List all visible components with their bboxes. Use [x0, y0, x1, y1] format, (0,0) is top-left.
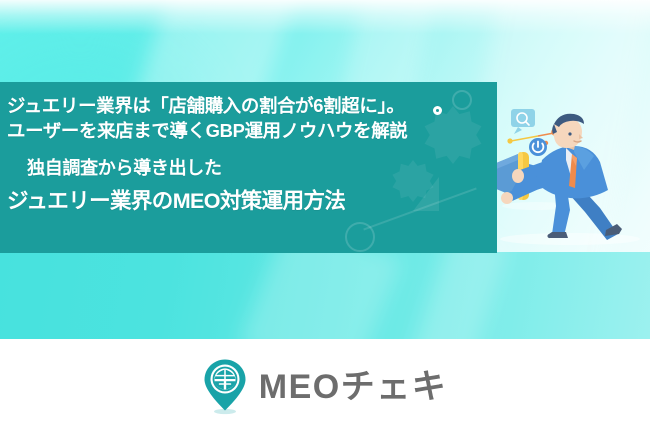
map-pin-icon: [203, 358, 247, 416]
headline-line-1: ジュエリー業界は「店舗購入の割合が6割超に」。: [7, 93, 491, 118]
hand: [501, 192, 513, 204]
power-icon: [529, 138, 547, 156]
headline-line-2: ユーザーを来店まで導くGBP運用ノウハウを解説: [7, 118, 491, 143]
hero-bottom-band: [0, 252, 650, 339]
headline-text-block: ジュエリー業界は「店舗購入の割合が6割超に」。 ユーザーを来店まで導くGBP運用…: [0, 82, 497, 253]
eye: [568, 132, 571, 135]
logo-wordmark: MEOチェキ: [259, 370, 447, 404]
footer-bar: MEOチェキ: [0, 339, 650, 434]
top-white-wash: [0, 0, 650, 34]
meo-cheki-logo[interactable]: MEOチェキ: [203, 358, 447, 416]
search-icon: [511, 109, 535, 134]
banner-image: ジュエリー業界は「店舗購入の割合が6割超に」。 ユーザーを来店まで導くGBP運用…: [0, 0, 650, 434]
shoe: [547, 232, 568, 238]
hand: [512, 169, 524, 183]
headline-panel: ジュエリー業界は「店舗購入の割合が6割超に」。 ユーザーを来店まで導くGBP運用…: [0, 82, 497, 253]
headline-line-3: 独自調査から導き出した: [7, 156, 491, 181]
headline-line-4: ジュエリー業界のMEO対策運用方法: [7, 186, 491, 216]
businessman-with-megaphone-illustration: [478, 96, 650, 256]
